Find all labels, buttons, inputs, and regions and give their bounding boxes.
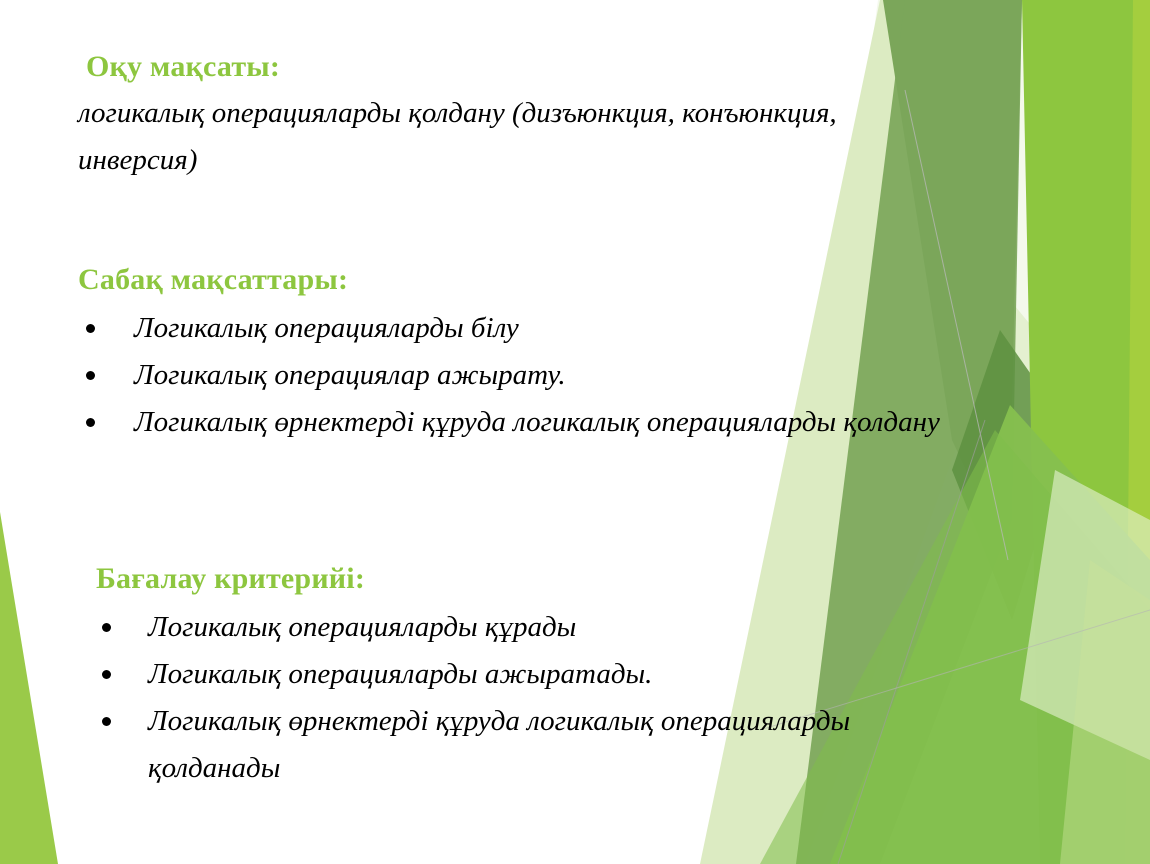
slide-canvas: Оқу мақсаты: логикалық операцияларды қол… <box>0 0 1150 864</box>
list-item-label: Логикалық операциялар ажырату. <box>134 352 1068 399</box>
learning-objective-heading: Оқу мақсаты: <box>86 50 898 84</box>
list-item-label: Логикалық өрнектерді құруда логикалық оп… <box>134 399 1068 446</box>
learning-objective-block: Оқу мақсаты: логикалық операцияларды қол… <box>78 50 898 184</box>
bullet-dot-icon <box>86 371 95 380</box>
assessment-criteria-block: Бағалау критерийі: Логикалық операциялар… <box>96 562 936 792</box>
list-item-label: Логикалық өрнектерді құруда логикалық оп… <box>148 698 936 792</box>
list-item-label: Логикалық операцияларды құрады <box>148 604 936 651</box>
list-item: Логикалық өрнектерді құруда логикалық оп… <box>78 399 1068 446</box>
assessment-criteria-heading: Бағалау критерийі: <box>96 562 936 596</box>
bullet-dot-icon <box>102 670 111 679</box>
bullet-dot-icon <box>86 418 95 427</box>
list-item-label: Логикалық операцияларды ажыратады. <box>148 651 936 698</box>
list-item-label: Логикалық операцияларды білу <box>134 305 1068 352</box>
list-item: Логикалық операцияларды білу <box>78 305 1068 352</box>
list-item: Логикалық операцияларды ажыратады. <box>96 651 936 698</box>
list-item: Логикалық өрнектерді құруда логикалық оп… <box>96 698 936 792</box>
learning-objective-text: логикалық операцияларды қолдану (дизъюнк… <box>78 90 898 184</box>
assessment-criteria-list: Логикалық операцияларды құрады Логикалық… <box>96 604 936 792</box>
lesson-goals-heading: Сабақ мақсаттары: <box>78 263 1068 297</box>
slide-content: Оқу мақсаты: логикалық операцияларды қол… <box>0 0 1150 864</box>
bullet-dot-icon <box>102 623 111 632</box>
bullet-dot-icon <box>102 717 111 726</box>
list-item: Логикалық операциялар ажырату. <box>78 352 1068 399</box>
lesson-goals-list: Логикалық операцияларды білу Логикалық о… <box>78 305 1068 446</box>
lesson-goals-block: Сабақ мақсаттары: Логикалық операциялард… <box>78 263 1068 446</box>
bullet-dot-icon <box>86 324 95 333</box>
list-item: Логикалық операцияларды құрады <box>96 604 936 651</box>
